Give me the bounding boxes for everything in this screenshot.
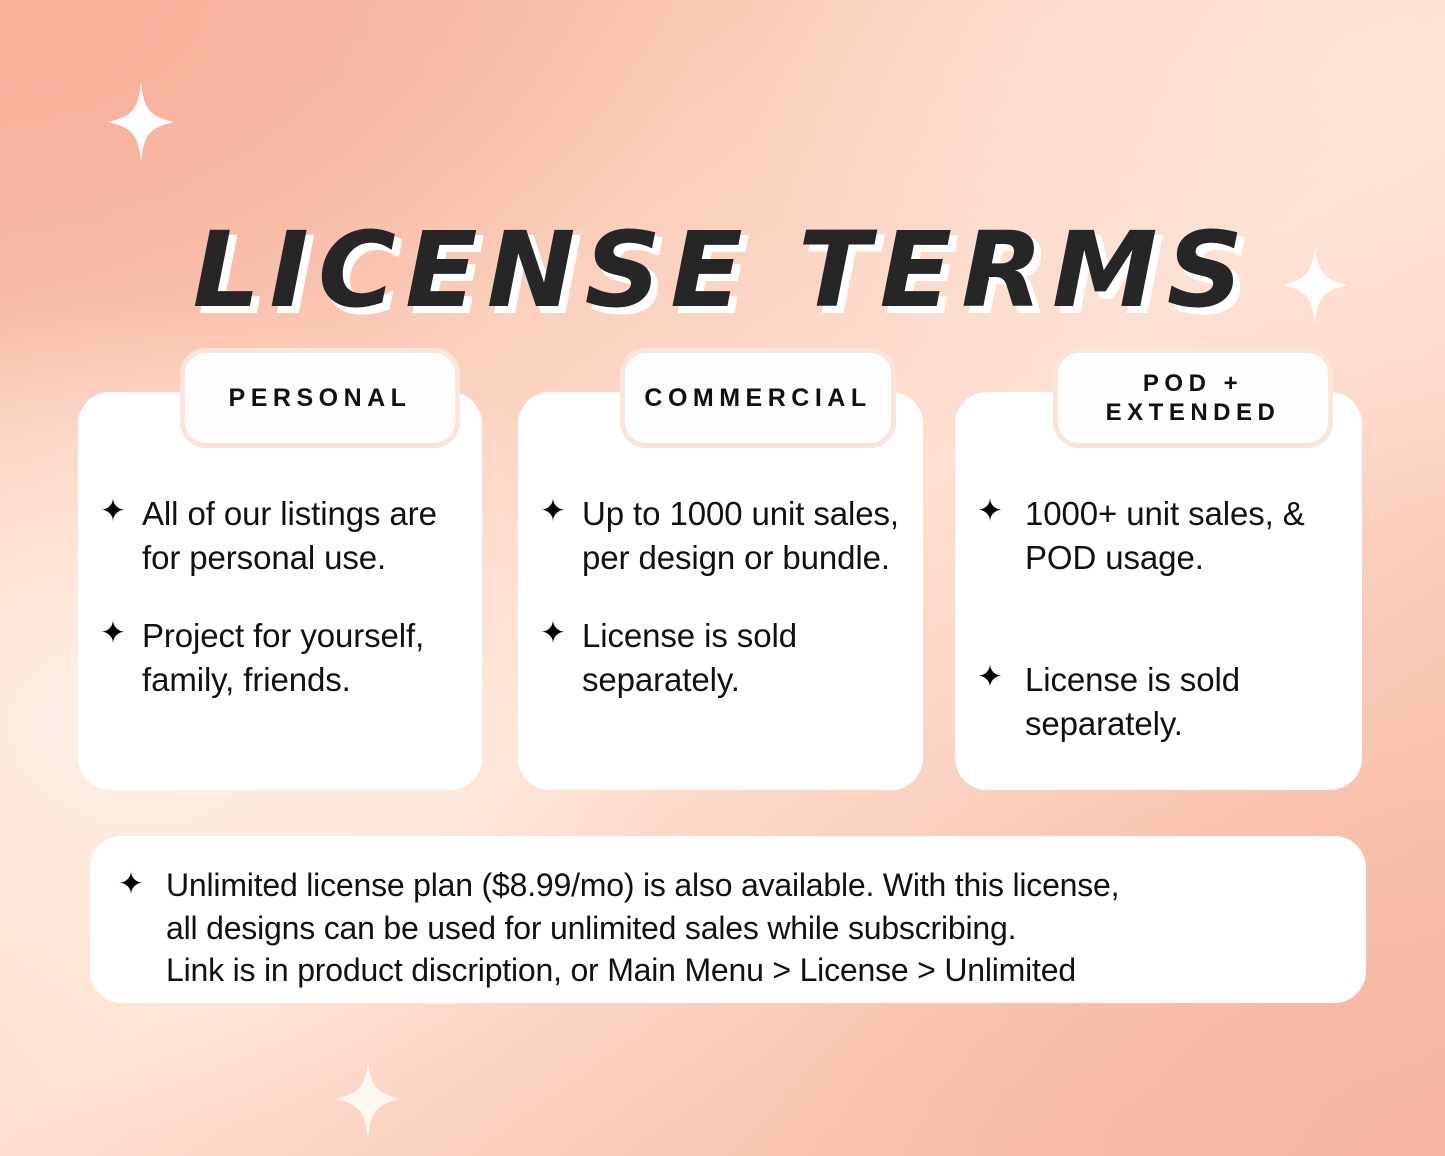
tier-header-commercial-label: COMMERCIAL — [644, 383, 871, 414]
list-item: ✦ License is sold separately. — [977, 658, 1338, 746]
tier-personal-bullet-2: Project for yourself, family, friends. — [142, 614, 458, 702]
tier-header-personal: PERSONAL — [180, 348, 460, 448]
tier-personal-bullet-1: All of our listings are for personal use… — [142, 492, 458, 580]
tier-pod-extended-bullet-2: License is sold separately. — [1025, 658, 1338, 746]
tier-header-commercial: COMMERCIAL — [620, 348, 896, 448]
tier-card-pod-extended: ✦ 1000+ unit sales, & POD usage. ✦ Licen… — [955, 392, 1362, 790]
license-terms-graphic: LICENSE TERMS ✦ All of our listings are … — [0, 0, 1445, 1156]
sparkle-top-left-icon — [108, 82, 174, 162]
unlimited-plan-banner-content: ✦ Unlimited license plan ($8.99/mo) is a… — [118, 864, 1346, 992]
unlimited-plan-line-3: Link is in product discription, or Main … — [166, 949, 1346, 992]
tier-commercial-bullet-2: License is sold separately. — [582, 614, 899, 702]
tier-commercial-bullet-list: ✦ Up to 1000 unit sales, per design or b… — [518, 492, 923, 702]
list-item: ✦ 1000+ unit sales, & POD usage. — [977, 492, 1338, 580]
tier-header-pod-extended-line-2: EXTENDED — [1106, 398, 1281, 427]
spacer — [977, 614, 1338, 658]
tier-card-commercial: ✦ Up to 1000 unit sales, per design or b… — [518, 392, 923, 790]
tier-header-pod-extended: POD + EXTENDED — [1053, 348, 1333, 448]
sparkle-bullet-icon: ✦ — [118, 869, 156, 900]
tier-pod-extended-bullet-list: ✦ 1000+ unit sales, & POD usage. ✦ Licen… — [955, 492, 1362, 746]
sparkle-bullet-icon: ✦ — [540, 618, 574, 649]
tier-header-personal-label: PERSONAL — [229, 383, 412, 414]
unlimited-plan-banner-text: Unlimited license plan ($8.99/mo) is als… — [166, 864, 1346, 992]
list-item: ✦ Project for yourself, family, friends. — [100, 614, 458, 702]
list-item: ✦ All of our listings are for personal u… — [100, 492, 458, 580]
unlimited-plan-line-1: Unlimited license plan ($8.99/mo) is als… — [166, 864, 1346, 907]
sparkle-bullet-icon: ✦ — [100, 496, 134, 527]
unlimited-plan-banner: ✦ Unlimited license plan ($8.99/mo) is a… — [90, 836, 1366, 1003]
sparkle-bullet-icon: ✦ — [100, 618, 134, 649]
page-title: LICENSE TERMS — [0, 218, 1445, 322]
tier-card-personal: ✦ All of our listings are for personal u… — [78, 392, 482, 790]
unlimited-plan-line-2: all designs can be used for unlimited sa… — [166, 907, 1346, 950]
sparkle-bottom-icon — [336, 1060, 400, 1138]
list-item: ✦ Up to 1000 unit sales, per design or b… — [540, 492, 899, 580]
tier-commercial-bullet-1: Up to 1000 unit sales, per design or bun… — [582, 492, 899, 580]
tier-header-pod-extended-line-1: POD + — [1106, 369, 1281, 398]
sparkle-bullet-icon: ✦ — [977, 662, 1011, 693]
tier-pod-extended-bullet-1: 1000+ unit sales, & POD usage. — [1025, 492, 1338, 580]
tier-personal-bullet-list: ✦ All of our listings are for personal u… — [78, 492, 482, 702]
sparkle-bullet-icon: ✦ — [977, 496, 1011, 527]
sparkle-bullet-icon: ✦ — [540, 496, 574, 527]
list-item: ✦ License is sold separately. — [540, 614, 899, 702]
